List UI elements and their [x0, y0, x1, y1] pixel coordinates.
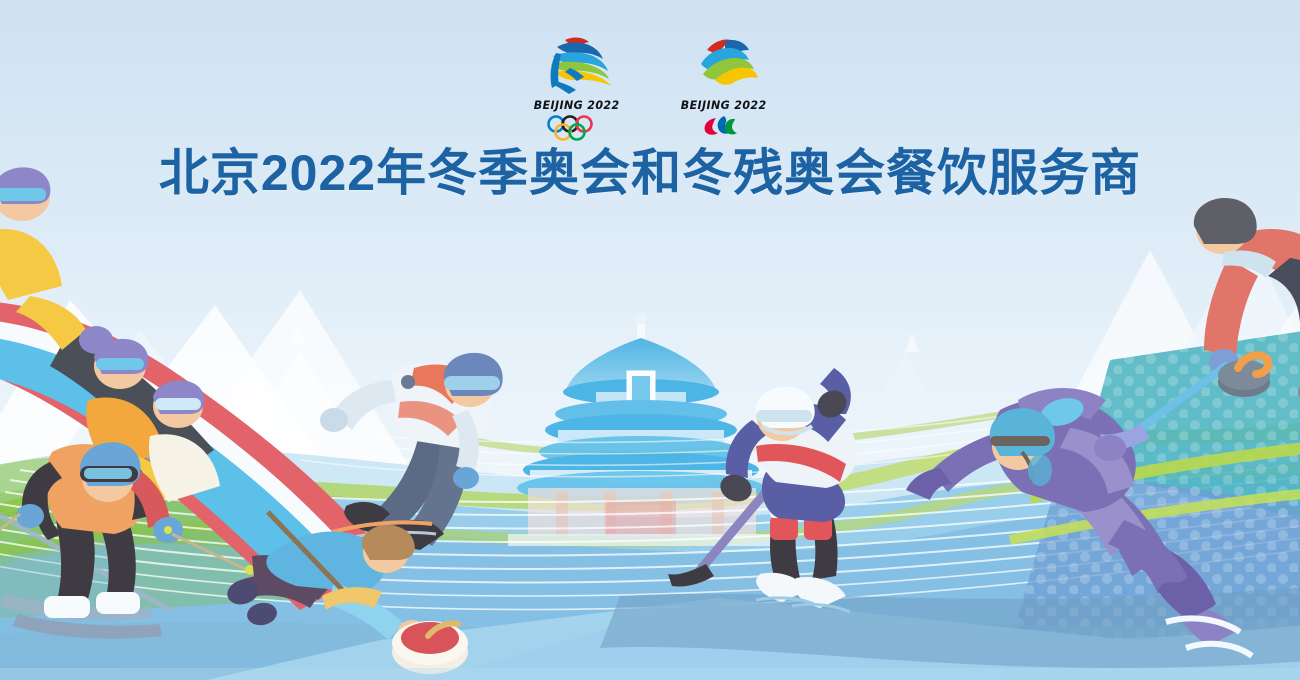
page-title: 北京2022年冬季奥会和冬残奥会餐饮服务商	[0, 147, 1300, 200]
beijing-2022-paralympic-logo[interactable]: BEIJING 2022	[679, 34, 768, 137]
olympic-rings-icon	[545, 115, 607, 141]
olympic-wordmark: BEIJING 2022	[533, 98, 619, 112]
flying-high-paralympic-emblem	[685, 34, 763, 96]
curling-stone-red	[392, 621, 468, 674]
beijing-2022-olympic-logo[interactable]: BEIJING 2022	[532, 34, 621, 141]
winter-dream-olympic-emblem	[537, 34, 615, 96]
olympic-logos-row: BEIJING 2022 BEIJING 2022	[0, 34, 1300, 141]
paralympic-wordmark: BEIJING 2022	[681, 98, 767, 112]
agitos-icon	[700, 115, 748, 137]
beijing-2022-catering-banner: BEIJING 2022 BEIJING 2022	[0, 0, 1300, 680]
